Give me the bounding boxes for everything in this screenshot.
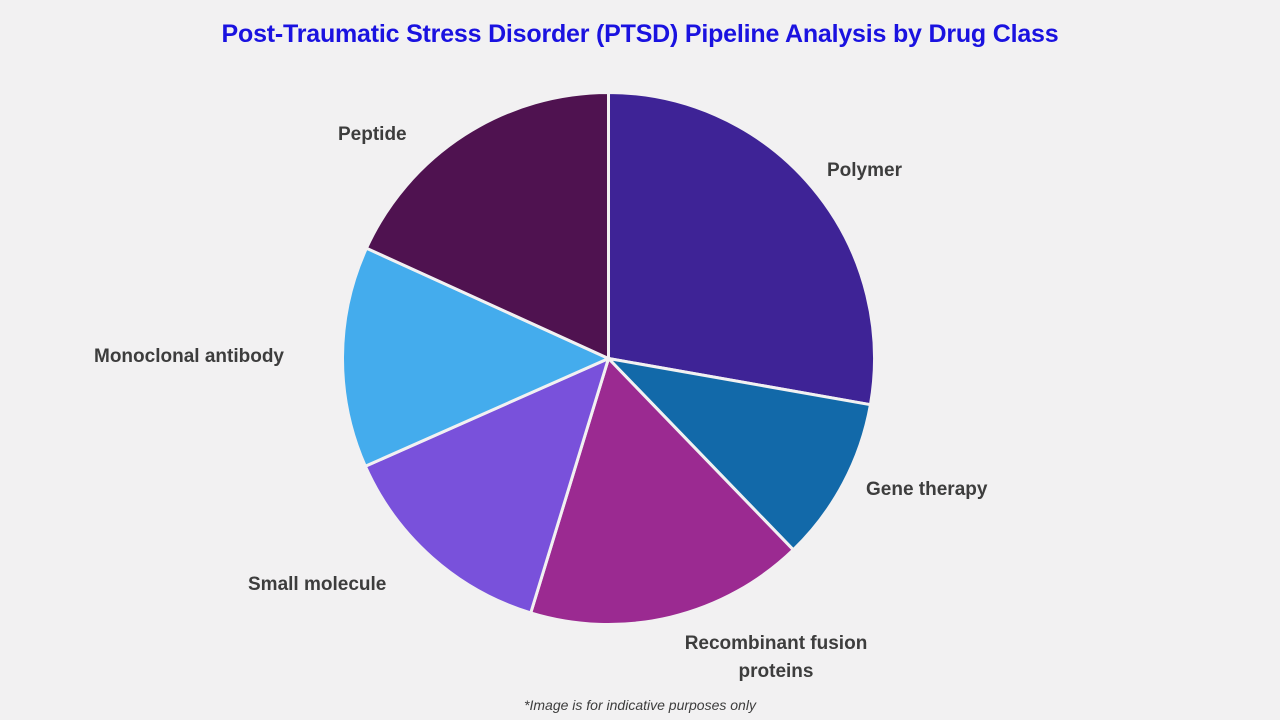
pie-label-monoclonal-antibody: Monoclonal antibody [94,343,284,371]
pie-chart-figure: Post-Traumatic Stress Disorder (PTSD) Pi… [0,0,1280,720]
pie-label-gene-therapy: Gene therapy [866,476,987,504]
pie-label-polymer: Polymer [827,157,902,185]
pie-slice-group [342,92,874,624]
pie-label-peptide: Peptide [338,121,407,149]
pie-label-recombinant-fusion-proteins: Recombinant fusion proteins [643,630,909,686]
pie-label-small-molecule: Small molecule [248,571,386,599]
chart-footnote: *Image is for indicative purposes only [0,697,1280,713]
pie-chart-area: Polymer Gene therapy Recombinant fusion … [0,0,1280,720]
pie-slice-polymer[interactable] [609,92,875,404]
